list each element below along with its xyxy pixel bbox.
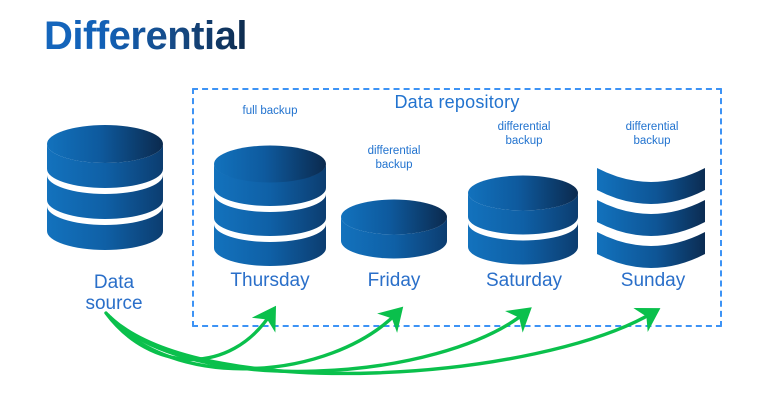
diagram-canvas: Differential Data repository: [0, 0, 768, 411]
caption-friday: differential backup: [341, 144, 447, 172]
caption-thursday: full backup: [215, 104, 325, 118]
day-label-thursday: Thursday: [200, 269, 340, 292]
day-label-sunday: Sunday: [594, 269, 712, 292]
caption-saturday: differential backup: [470, 120, 578, 148]
day-label-friday: Friday: [334, 269, 454, 292]
page-title: Differential: [44, 14, 247, 59]
data-source-label: Data source: [52, 272, 176, 314]
caption-sunday: differential backup: [598, 120, 706, 148]
day-label-saturday: Saturday: [458, 269, 590, 292]
data-source-cylinder: [47, 125, 163, 250]
